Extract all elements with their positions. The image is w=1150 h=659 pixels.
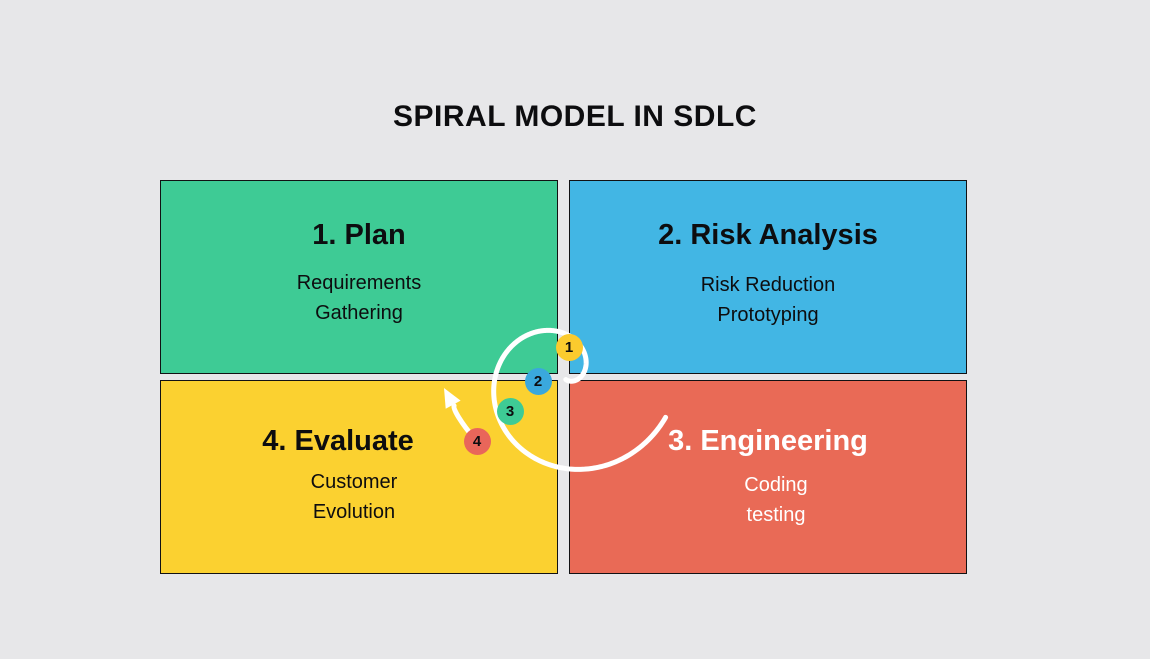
quadrant-risk-analysis-subtitle-line2: Prototyping [701, 300, 836, 330]
quadrant-plan-subtitle-line1: Requirements [297, 268, 422, 298]
quadrant-engineering-subtitle-line2: testing [744, 500, 807, 530]
quadrant-engineering-title: 3. Engineering [668, 427, 868, 456]
quadrant-plan-subtitle-line2: Gathering [297, 298, 422, 328]
quadrant-grid: 1. Plan Requirements Gathering 2. Risk A… [160, 180, 967, 574]
quadrant-engineering-subtitle-line1: Coding [744, 470, 807, 500]
spiral-step-badge-1[interactable]: 1 [556, 334, 583, 361]
diagram-canvas: SPIRAL MODEL IN SDLC 1. Plan Requirement… [0, 0, 1150, 659]
page-title: SPIRAL MODEL IN SDLC [0, 100, 1150, 134]
spiral-step-badge-3[interactable]: 3 [497, 398, 524, 425]
quadrant-engineering[interactable]: 3. Engineering Coding testing [569, 380, 967, 574]
quadrant-risk-analysis[interactable]: 2. Risk Analysis Risk Reduction Prototyp… [569, 180, 967, 374]
spiral-step-badge-label: 1 [565, 339, 573, 356]
quadrant-risk-analysis-title: 2. Risk Analysis [658, 221, 878, 250]
quadrant-risk-analysis-subtitle-line1: Risk Reduction [701, 270, 836, 300]
spiral-step-badge-4[interactable]: 4 [464, 428, 491, 455]
quadrant-engineering-subtitle: Coding testing [744, 470, 807, 530]
quadrant-evaluate-title: 4. Evaluate [262, 427, 414, 456]
spiral-step-badge-label: 3 [506, 403, 514, 420]
quadrant-plan[interactable]: 1. Plan Requirements Gathering [160, 180, 558, 374]
spiral-step-badge-label: 4 [473, 433, 481, 450]
spiral-step-badge-2[interactable]: 2 [525, 368, 552, 395]
quadrant-evaluate-subtitle-line2: Evolution [311, 497, 398, 527]
quadrant-evaluate-subtitle-line1: Customer [311, 467, 398, 497]
quadrant-risk-analysis-subtitle: Risk Reduction Prototyping [701, 270, 836, 330]
quadrant-plan-subtitle: Requirements Gathering [297, 268, 422, 328]
quadrant-plan-title: 1. Plan [312, 221, 406, 250]
quadrant-evaluate-subtitle: Customer Evolution [311, 467, 398, 527]
spiral-step-badge-label: 2 [534, 373, 542, 390]
